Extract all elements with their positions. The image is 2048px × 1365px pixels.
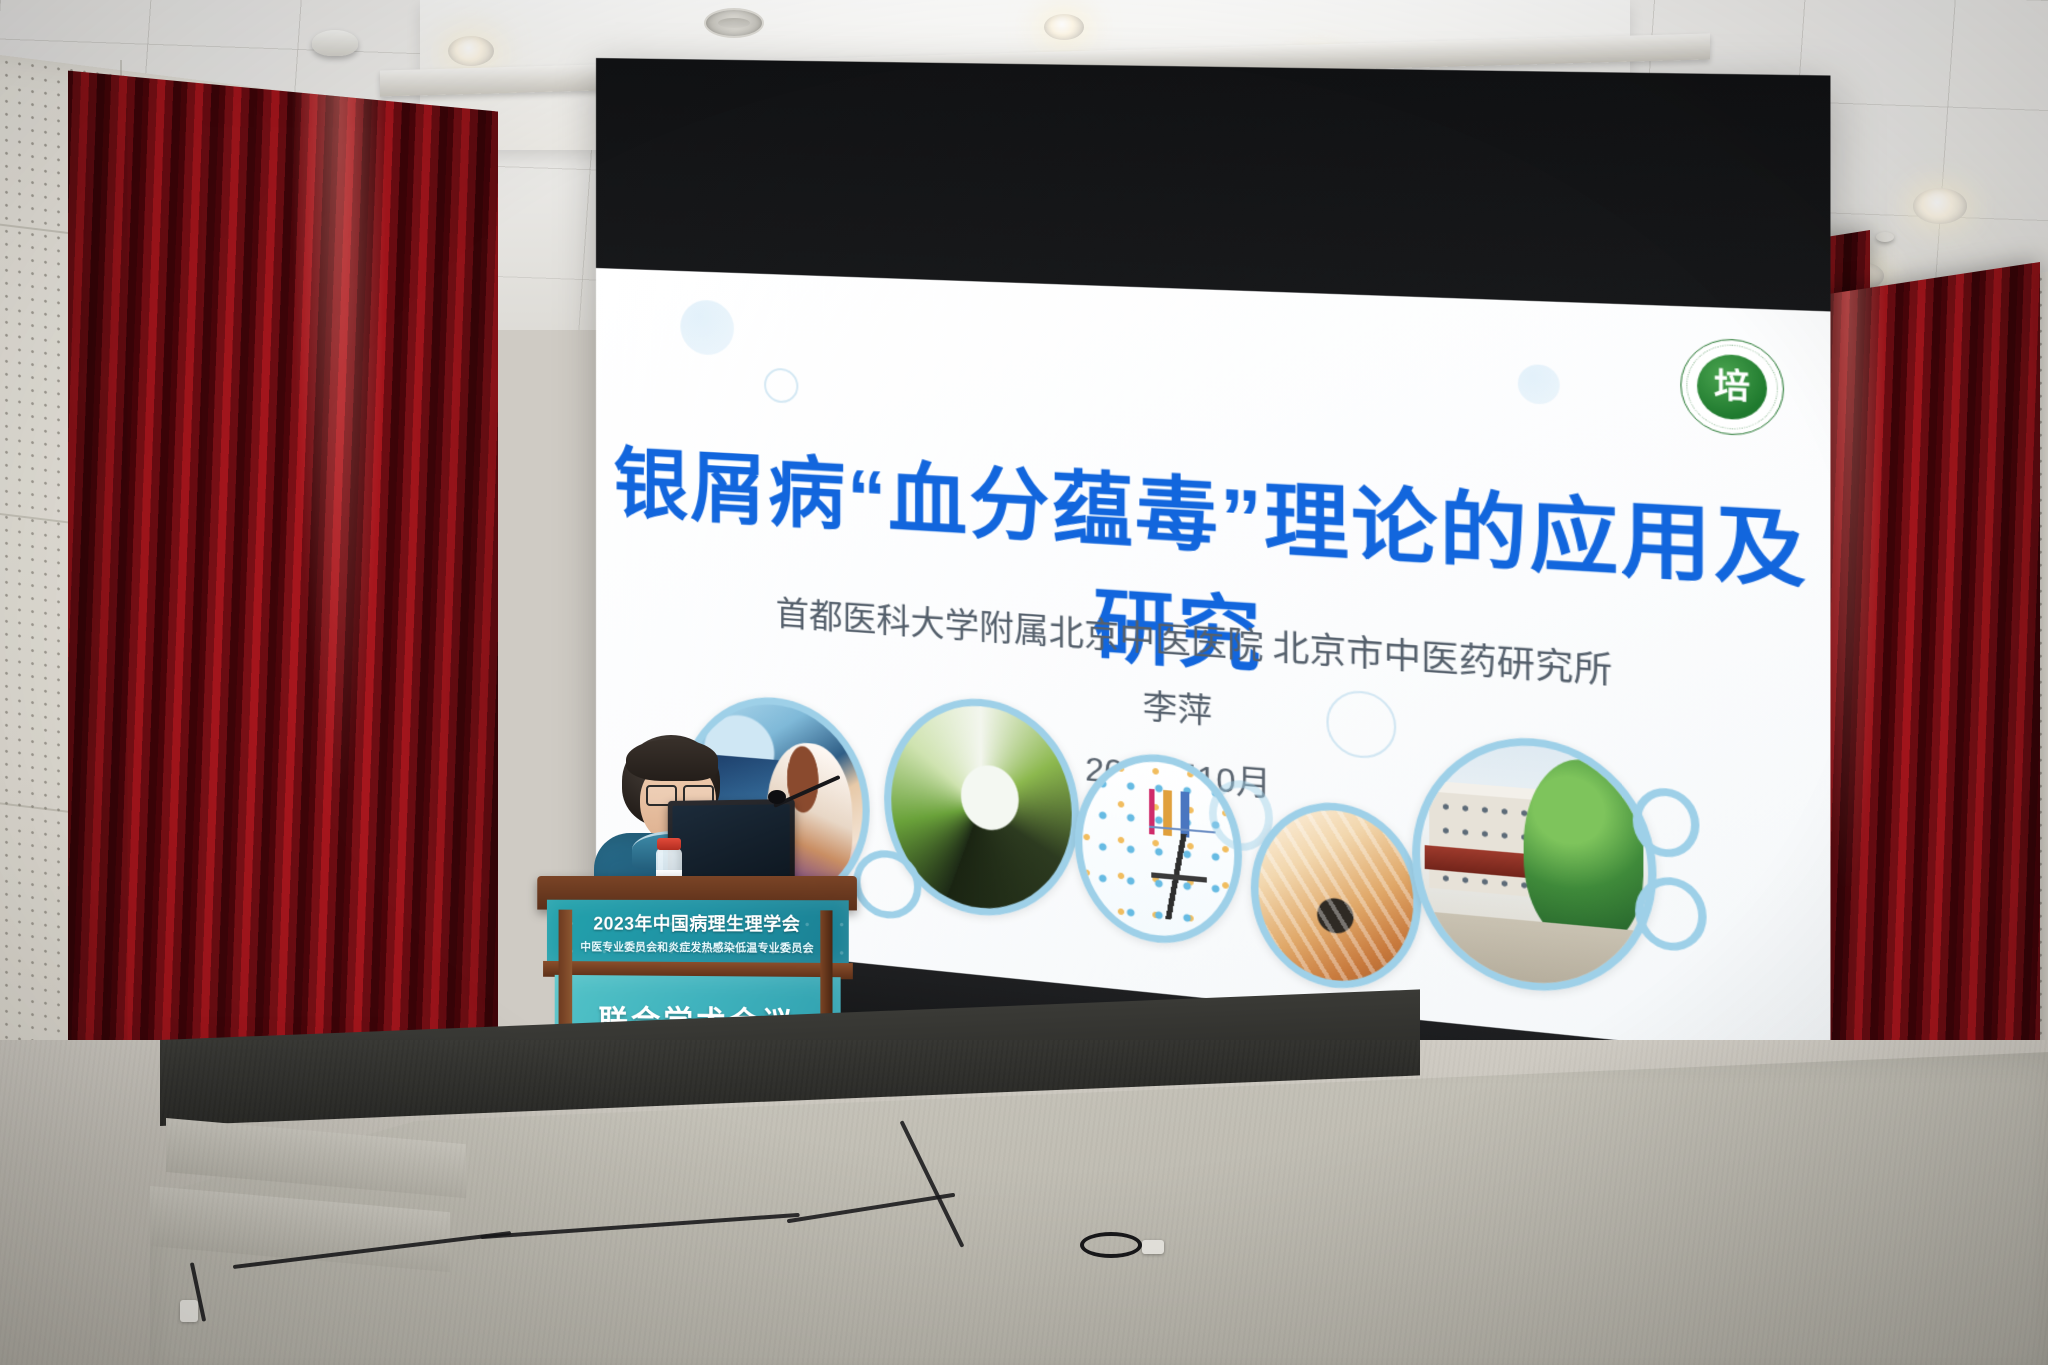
hospital-logo: 培 [1680, 337, 1784, 437]
bottle-cap [657, 838, 681, 850]
recessed-downlight [1913, 188, 1967, 224]
microscope-graphic [1152, 831, 1207, 923]
screen-masking-top [596, 58, 1830, 311]
gooseneck-microphone [774, 782, 844, 844]
smoke-detector [312, 30, 358, 56]
microphone-head [768, 790, 786, 804]
cable-plug [1142, 1240, 1164, 1254]
conference-committee-line: 中医专业委员会和炎症发热感染低温专业委员会 [580, 938, 814, 955]
decorative-bubble [680, 299, 734, 356]
logo-dotted-ring [1686, 343, 1778, 432]
recessed-downlight [448, 36, 494, 66]
photo-hospital-building [1412, 729, 1656, 1002]
floor-outlet [180, 1300, 198, 1322]
ceiling-air-vent [704, 8, 764, 38]
decorative-bubble [1518, 364, 1560, 405]
podium-banner-upper: 2023年中国病理生理学会 中医专业委员会和炎症发热感染低温专业委员会 [547, 900, 849, 965]
photo-dried-herbs [1251, 796, 1421, 996]
coiled-cable [1080, 1232, 1142, 1258]
conference-room-photo: 培 银屑病“血分蕴毒”理论的应用及研究 首都医科大学附属北京中医医院 北京市中医… [0, 0, 2048, 1365]
photo-microscope-and-data [1075, 748, 1242, 951]
conference-org-line: 2023年中国病理生理学会 [593, 909, 800, 936]
speaker-fringe [626, 739, 718, 781]
sprinkler-head [1876, 232, 1894, 242]
recessed-downlight [1044, 14, 1084, 40]
decorative-bubble [764, 367, 798, 403]
curtain-light-highlight [292, 81, 387, 796]
